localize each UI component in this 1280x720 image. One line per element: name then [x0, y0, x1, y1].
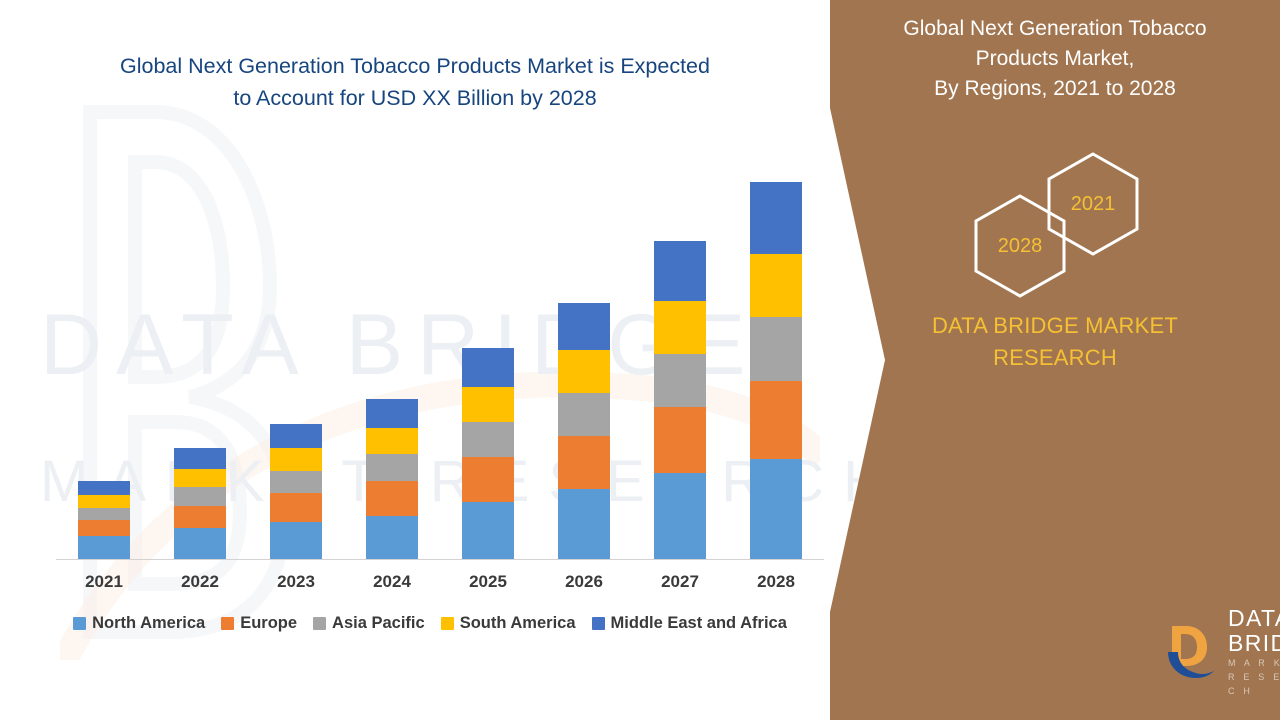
- bar-segment: [654, 473, 706, 559]
- bar-segment: [270, 471, 322, 494]
- chart-title-line1: Global Next Generation Tobacco Products …: [0, 50, 830, 82]
- x-axis-tick-label: 2026: [536, 572, 632, 592]
- bar-segment: [558, 350, 610, 393]
- legend-swatch: [441, 617, 454, 630]
- legend-item[interactable]: South America: [441, 614, 576, 633]
- logo-text: DATA BRIDGE M A R K E T R E S E A R C H: [1228, 606, 1280, 698]
- bar-segment: [270, 522, 322, 559]
- panel-title-line1: Global Next Generation Tobacco: [854, 14, 1256, 44]
- hexagon-2021: 2021: [1045, 150, 1141, 258]
- bar-group: [654, 241, 706, 559]
- bar-segment: [78, 520, 130, 536]
- chart-title: Global Next Generation Tobacco Products …: [0, 50, 830, 114]
- chart-legend: North AmericaEuropeAsia PacificSouth Ame…: [0, 614, 860, 633]
- bar-segment: [558, 303, 610, 350]
- bar-segment: [558, 393, 610, 436]
- bar-group: [78, 481, 130, 559]
- bar-segment: [366, 399, 418, 428]
- bar-segment: [750, 182, 802, 254]
- bar-segment: [750, 254, 802, 318]
- bar-segment: [558, 489, 610, 559]
- bar-segment: [174, 448, 226, 469]
- legend-item[interactable]: Europe: [221, 614, 297, 633]
- bar-segment: [654, 354, 706, 407]
- x-axis-tick-label: 2028: [728, 572, 824, 592]
- bar-segment: [462, 348, 514, 387]
- brand-line1: DATA BRIDGE MARKET: [830, 310, 1280, 342]
- legend-label: Middle East and Africa: [611, 614, 787, 633]
- legend-swatch: [73, 617, 86, 630]
- logo-mark-icon: [1160, 622, 1218, 682]
- panel-title-line3: By Regions, 2021 to 2028: [854, 74, 1256, 104]
- panel-title: Global Next Generation Tobacco Products …: [830, 14, 1280, 104]
- legend-label: South America: [460, 614, 576, 633]
- x-axis-line: [56, 559, 824, 560]
- legend-swatch: [313, 617, 326, 630]
- bar-segment: [654, 301, 706, 354]
- logo: DATA BRIDGE M A R K E T R E S E A R C H: [1160, 606, 1280, 698]
- hexagon-2028-label: 2028: [998, 235, 1043, 258]
- brand-panel: Global Next Generation Tobacco Products …: [830, 0, 1280, 720]
- bar-segment: [750, 459, 802, 559]
- bar-segment: [270, 424, 322, 449]
- bar-group: [174, 448, 226, 559]
- bar-group: [750, 182, 802, 559]
- panel-title-line2: Products Market,: [854, 44, 1256, 74]
- brand-line2: RESEARCH: [830, 342, 1280, 374]
- bar-segment: [750, 317, 802, 381]
- x-axis-tick-label: 2024: [344, 572, 440, 592]
- logo-tagline: M A R K E T R E S E A R C H: [1228, 656, 1280, 698]
- bar-segment: [462, 502, 514, 559]
- legend-label: Asia Pacific: [332, 614, 425, 633]
- bar-segment: [174, 469, 226, 487]
- bar-segment: [270, 493, 322, 522]
- bar-segment: [174, 487, 226, 505]
- bar-segment: [174, 506, 226, 529]
- legend-swatch: [592, 617, 605, 630]
- bar-segment: [270, 448, 322, 471]
- bar-segment: [654, 407, 706, 473]
- bar-segment: [78, 481, 130, 495]
- bar-segment: [558, 436, 610, 489]
- bar-segment: [78, 495, 130, 507]
- x-axis-tick-label: 2021: [56, 572, 152, 592]
- bar-group: [558, 303, 610, 559]
- bar-segment: [366, 428, 418, 455]
- bar-segment: [462, 422, 514, 457]
- bar-segment: [366, 454, 418, 481]
- bar-segment: [462, 457, 514, 502]
- x-axis-tick-label: 2023: [248, 572, 344, 592]
- slide-root: DATA BRIDGE MARKET RESEARCH Global Next …: [0, 0, 1280, 720]
- legend-item[interactable]: North America: [73, 614, 205, 633]
- legend-item[interactable]: Middle East and Africa: [592, 614, 787, 633]
- bar-group: [366, 399, 418, 559]
- stacked-bar-plot: [56, 150, 824, 560]
- bar-segment: [78, 508, 130, 520]
- legend-label: North America: [92, 614, 205, 633]
- legend-swatch: [221, 617, 234, 630]
- x-axis-tick-label: 2027: [632, 572, 728, 592]
- logo-name: DATA BRIDGE: [1228, 606, 1280, 656]
- bar-segment: [366, 481, 418, 516]
- bar-segment: [462, 387, 514, 422]
- hexagon-group: 2028 2021: [830, 150, 1280, 290]
- bar-segment: [174, 528, 226, 559]
- chart-title-line2: to Account for USD XX Billion by 2028: [0, 82, 830, 114]
- bar-group: [462, 348, 514, 559]
- x-axis-tick-label: 2025: [440, 572, 536, 592]
- bar-segment: [78, 536, 130, 559]
- chart-area: DATA BRIDGE MARKET RESEARCH Global Next …: [0, 0, 860, 720]
- legend-label: Europe: [240, 614, 297, 633]
- bar-group: [270, 424, 322, 559]
- bar-segment: [654, 241, 706, 300]
- bar-segment: [366, 516, 418, 559]
- brand-name: DATA BRIDGE MARKET RESEARCH: [830, 310, 1280, 374]
- x-axis-labels: 20212022202320242025202620272028: [56, 572, 824, 600]
- legend-item[interactable]: Asia Pacific: [313, 614, 425, 633]
- hexagon-2021-label: 2021: [1071, 193, 1116, 216]
- x-axis-tick-label: 2022: [152, 572, 248, 592]
- bar-segment: [750, 381, 802, 459]
